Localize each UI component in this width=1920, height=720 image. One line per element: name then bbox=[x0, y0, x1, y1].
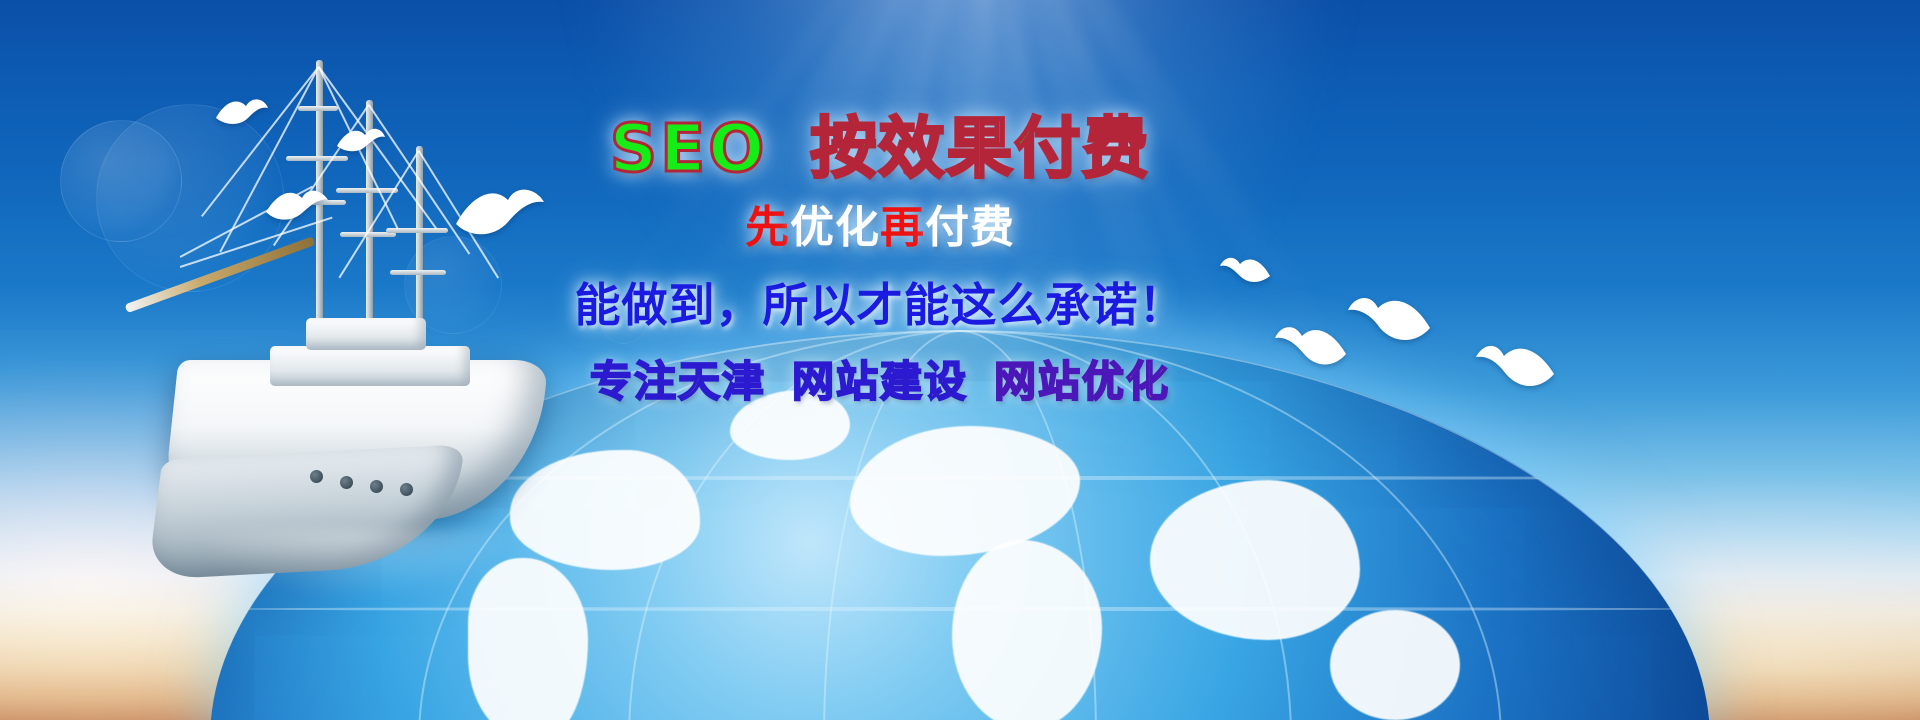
ship-deckhouse bbox=[306, 318, 426, 350]
service-item-2: 网站建设 bbox=[792, 357, 968, 406]
subheadline-part-1: 先 bbox=[745, 202, 790, 253]
bird-icon bbox=[1272, 318, 1350, 370]
seo-promo-banner: SEO 按效果付费 先优化再付费 能做到，所以才能这么承诺！ 专注天津网站建设网… bbox=[0, 0, 1920, 720]
service-item-3: 网站优化 bbox=[994, 357, 1170, 406]
headline-cn: 按效果付费 bbox=[810, 110, 1150, 187]
ship-porthole bbox=[400, 483, 413, 496]
subheadline-part-4: 付费 bbox=[925, 202, 1015, 253]
subheadline-part-3: 再 bbox=[880, 202, 925, 253]
subheadline-part-2: 优化 bbox=[790, 202, 880, 253]
ship-porthole bbox=[370, 480, 383, 493]
service-item-1: 专注天津 bbox=[590, 357, 766, 406]
bird-icon bbox=[262, 182, 332, 228]
promise-text: 能做到，所以才能这么承诺！ bbox=[560, 272, 1200, 338]
ship-reflection bbox=[190, 530, 520, 600]
bird-icon bbox=[212, 92, 272, 132]
subheadline: 先优化再付费 bbox=[560, 196, 1200, 260]
ship-porthole bbox=[310, 470, 323, 483]
ship-deckhouse bbox=[270, 346, 470, 386]
headline: SEO 按效果付费 bbox=[560, 110, 1200, 188]
bird-icon bbox=[452, 180, 548, 244]
bird-icon bbox=[334, 122, 388, 158]
bird-icon bbox=[1344, 288, 1434, 346]
bird-icon bbox=[1216, 250, 1274, 288]
headline-en: SEO bbox=[610, 110, 768, 187]
services-list: 专注天津网站建设网站优化 bbox=[560, 352, 1200, 412]
bowsprit bbox=[125, 236, 316, 313]
ship-porthole bbox=[340, 476, 353, 489]
landmass bbox=[952, 540, 1102, 720]
bird-icon bbox=[1472, 336, 1558, 392]
promo-copy: SEO 按效果付费 先优化再付费 能做到，所以才能这么承诺！ 专注天津网站建设网… bbox=[560, 110, 1200, 412]
landmass bbox=[1330, 610, 1460, 720]
